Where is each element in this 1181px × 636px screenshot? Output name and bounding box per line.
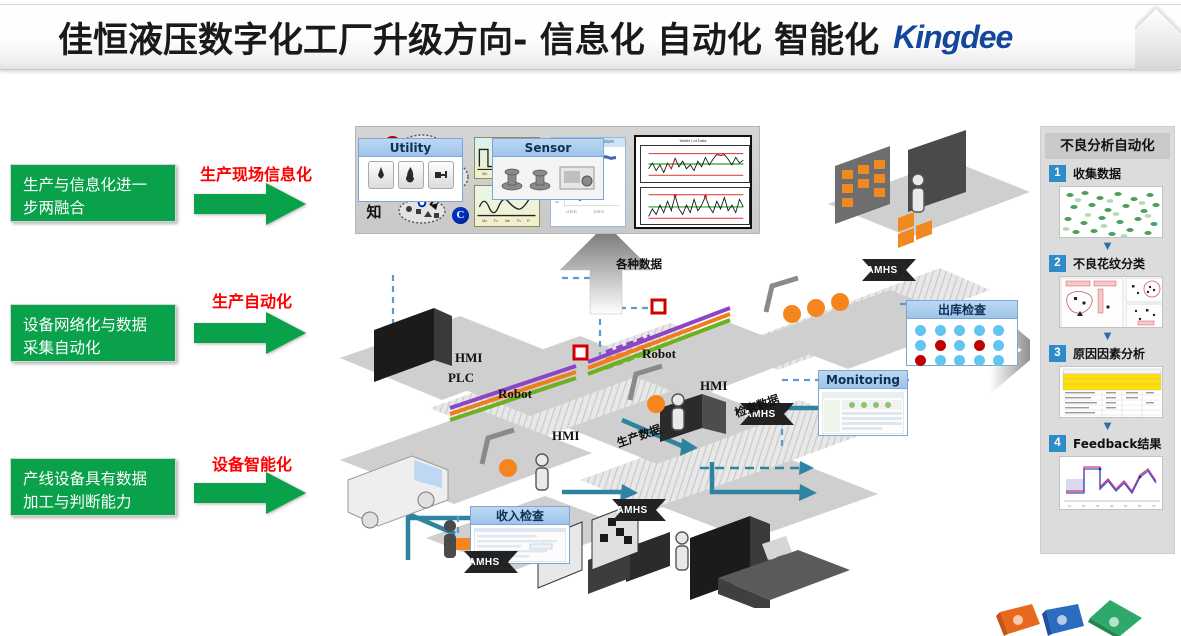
various-data-label: 各种数据 — [616, 256, 662, 272]
svg-text:11:30:31: 11:30:31 — [566, 210, 577, 214]
analysis-step-1[interactable]: 1 收集数据 — [1049, 163, 1166, 238]
svg-text:We: We — [505, 219, 510, 223]
robot-label-2: Robot — [642, 346, 676, 362]
hmi-label-2: HMI — [552, 428, 579, 444]
callout-2-line2: 采集自动化 — [23, 337, 165, 360]
defect-analysis-panel: 不良分析自动化 1 收集数据 — [1040, 126, 1175, 554]
analysis-step-2[interactable]: 2 不良花纹分类 — [1049, 253, 1166, 328]
decorative-shapes — [992, 596, 1181, 636]
svg-text:Tu: Tu — [494, 219, 498, 223]
svg-text:Mo: Mo — [482, 172, 487, 176]
incoming-inspection-title: 收入检查 — [471, 507, 569, 525]
plc-label: PLC — [448, 370, 474, 386]
amhs-tag-2: AMHS — [588, 496, 666, 524]
step-4-number: 4 — [1049, 435, 1066, 452]
sensor-card-title: Sensor — [493, 139, 603, 157]
monitoring-card: Monitoring — [818, 370, 908, 436]
svg-text:Fr: Fr — [527, 219, 531, 223]
callout-box-2: 设备网络化与数据 采集自动化 — [10, 304, 176, 362]
inspection-dot-ok — [993, 325, 1004, 336]
flame-icon — [398, 161, 424, 189]
callout-box-1: 生产与信息化进一 步两融合 — [10, 164, 176, 222]
title-bar: 佳恒液压数字化工厂升级方向- 信息化 自动化 智能化 Kingdee — [0, 4, 1181, 70]
spc-chart-title: Wafer Lot Data — [636, 137, 750, 144]
callout-3-line1: 产线设备具有数据 — [23, 468, 165, 491]
amhs-label-4: AMHS — [856, 265, 897, 276]
inspection-dot-ok — [954, 325, 965, 336]
amhs-tag-4: AMHS — [838, 256, 916, 284]
callout-3-line2: 加工与判断能力 — [23, 491, 165, 514]
faucet-icon — [428, 161, 454, 189]
inspection-dot-ok — [935, 325, 946, 336]
water-drop-icon — [368, 161, 394, 189]
callout-1-line1: 生产与信息化进一 — [23, 174, 165, 197]
analysis-step-4[interactable]: 4 Feedback结果 102030 40506070 — [1049, 433, 1166, 510]
svg-text:Th: Th — [517, 219, 521, 223]
hmi-label-3: HMI — [700, 378, 727, 394]
hmi-label-1: HMI — [455, 350, 482, 366]
svg-text:30: 30 — [1096, 504, 1100, 508]
inspection-dot-ok — [974, 325, 985, 336]
inspection-dot-ok — [915, 340, 926, 351]
svg-text:Mo: Mo — [482, 219, 487, 223]
kingdee-logo: Kingdee — [893, 19, 1012, 56]
callout-box-3: 产线设备具有数据 加工与判断能力 — [10, 458, 176, 516]
monitoring-screenshot — [822, 392, 904, 434]
sensor-card: Sensor — [492, 138, 604, 200]
step-1-number: 1 — [1049, 165, 1066, 182]
page-title: 佳恒液压数字化工厂升级方向- 信息化 自动化 智能化 — [58, 12, 879, 63]
rail-arrow-3: ▼ — [1041, 420, 1174, 433]
inspection-dot-ok — [993, 340, 1004, 351]
arrow-label-2: 生产自动化 — [212, 288, 292, 312]
arrow-label-1: 生产现场信息化 — [200, 161, 312, 185]
inspection-dot-grid — [907, 319, 1017, 372]
svg-text:50: 50 — [1124, 504, 1128, 508]
amhs-label-1: AMHS — [458, 557, 499, 568]
inspection-dot-defect — [935, 340, 946, 351]
step-1-thumbnail — [1059, 186, 1163, 238]
svg-text:61: 61 — [556, 200, 560, 204]
svg-text:20: 20 — [1082, 504, 1086, 508]
monitoring-card-title: Monitoring — [819, 371, 907, 389]
inspection-dot-ok — [954, 340, 965, 351]
sensor-thumbnails — [498, 161, 598, 195]
outbound-inspection-title: 出库检查 — [907, 301, 1017, 319]
amhs-label-2: AMHS — [606, 505, 647, 516]
callout-2-line1: 设备网络化与数据 — [23, 314, 165, 337]
inspection-dot-ok — [993, 355, 1004, 366]
rail-arrow-2: ▼ — [1041, 330, 1174, 343]
inspection-dot-ok — [915, 325, 926, 336]
robot-label-1: Robot — [498, 386, 532, 402]
step-1-label: 收集数据 — [1073, 165, 1121, 182]
inspection-dot-ok — [935, 355, 946, 366]
step-4-thumbnail: 102030 40506070 — [1059, 456, 1163, 510]
cluster-badge-c: C — [452, 207, 469, 224]
utility-card: Utility — [358, 138, 463, 202]
green-arrow-1 — [194, 183, 306, 225]
step-3-number: 3 — [1049, 345, 1066, 362]
step-4-label: Feedback结果 — [1073, 435, 1161, 452]
amhs-tag-1: AMHS — [440, 548, 518, 576]
callout-1-line2: 步两融合 — [23, 197, 165, 220]
step-2-thumbnail — [1059, 276, 1163, 328]
page-curl-decoration — [1135, 5, 1181, 71]
step-2-number: 2 — [1049, 255, 1066, 272]
outbound-inspection-card: 出库检查 — [906, 300, 1018, 366]
defect-analysis-title: 不良分析自动化 — [1045, 133, 1170, 159]
step-3-label: 原因因素分析 — [1073, 345, 1145, 362]
svg-text:40: 40 — [1110, 504, 1114, 508]
svg-text:70: 70 — [1152, 504, 1156, 508]
green-arrow-2 — [194, 312, 306, 354]
analysis-step-3[interactable]: 3 原因因素分析 — [1049, 343, 1166, 418]
svg-text:60: 60 — [1138, 504, 1142, 508]
svg-text:11:35:31: 11:35:31 — [593, 210, 604, 214]
green-arrow-3 — [194, 472, 306, 514]
factory-illustration: 异状感知 A B C — [330, 108, 1030, 608]
step-2-label: 不良花纹分类 — [1073, 255, 1145, 272]
rail-arrow-1: ▼ — [1041, 240, 1174, 253]
step-3-thumbnail — [1059, 366, 1163, 418]
svg-text:10: 10 — [1068, 504, 1072, 508]
inspection-dot-ok — [974, 355, 985, 366]
inspection-dot-ok — [954, 355, 965, 366]
spc-control-chart: Wafer Lot Data — [634, 135, 752, 229]
inspection-dot-defect — [974, 340, 985, 351]
inspection-dot-defect — [915, 355, 926, 366]
utility-card-title: Utility — [359, 139, 462, 157]
